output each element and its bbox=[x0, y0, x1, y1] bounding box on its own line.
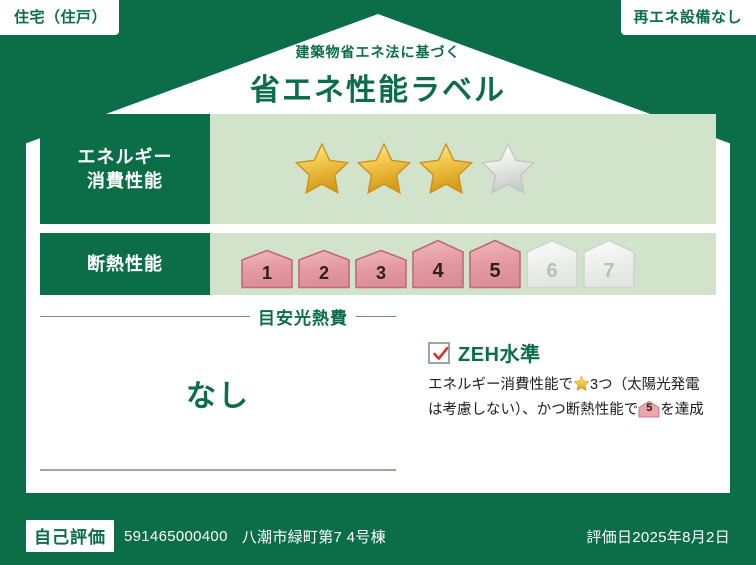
evaluation-type-tag: 自己評価 bbox=[26, 520, 114, 552]
mini-insulation-badge: 5 bbox=[638, 400, 660, 418]
insulation-level-number: 4 bbox=[411, 261, 465, 281]
insulation-level-3: 3 bbox=[354, 249, 408, 289]
insulation-level-number: 2 bbox=[297, 264, 351, 282]
insulation-level-4: 4 bbox=[411, 239, 465, 289]
insulation-performance-label: 断熱性能 bbox=[40, 233, 210, 295]
energy-performance-row: エネルギー 消費性能 bbox=[40, 114, 716, 224]
star-filled-icon bbox=[418, 141, 474, 197]
utility-cost-heading-text: 目安光熱費 bbox=[258, 304, 348, 329]
card-content: エネルギー 消費性能 断熱性能 1234567 目安光熱費 なし bbox=[26, 110, 730, 493]
zeh-panel: ZEH水準 エネルギー消費性能で3つ（太陽光発電は考慮しない）、かつ断熱性能で5… bbox=[412, 304, 716, 471]
utility-cost-heading: 目安光熱費 bbox=[40, 304, 396, 329]
heading-rule-left bbox=[40, 316, 250, 317]
mini-badge-number: 5 bbox=[638, 400, 660, 417]
insulation-level-5: 5 bbox=[468, 239, 522, 289]
star-rating bbox=[294, 141, 536, 197]
energy-label-line2: 消費性能 bbox=[87, 169, 163, 193]
insulation-level-number: 5 bbox=[468, 261, 522, 281]
evaluation-id: 591465000400 bbox=[124, 528, 228, 545]
title-main: 省エネ性能ラベル bbox=[0, 65, 756, 109]
zeh-desc-part2: 3つ（太陽光発電 bbox=[590, 377, 700, 393]
zeh-checkbox bbox=[428, 342, 450, 364]
energy-performance-label: エネルギー 消費性能 bbox=[40, 114, 210, 224]
evaluation-date: 評価日2025年8月2日 bbox=[586, 526, 730, 547]
lower-section: 目安光熱費 なし ZEH水準 エネルギー消費性能で3つ（太陽光発電は考慮しない）… bbox=[40, 304, 716, 471]
star-empty-icon bbox=[480, 141, 536, 197]
zeh-desc-part1: エネルギー消費性能で bbox=[428, 377, 573, 393]
label-title-block: 建築物省エネ法に基づく 省エネ性能ラベル bbox=[0, 42, 756, 109]
zeh-title: ZEH水準 bbox=[458, 338, 541, 367]
insulation-level-number: 7 bbox=[582, 261, 636, 281]
heading-rule-right bbox=[356, 316, 396, 317]
insulation-level-7: 7 bbox=[582, 239, 636, 289]
energy-label-line1: エネルギー bbox=[78, 145, 173, 169]
insulation-level-number: 1 bbox=[240, 264, 294, 282]
title-subtitle: 建築物省エネ法に基づく bbox=[0, 42, 756, 62]
insulation-level-6: 6 bbox=[525, 239, 579, 289]
insulation-level-scale: 1234567 bbox=[240, 239, 636, 289]
star-filled-icon bbox=[294, 141, 350, 197]
renewable-equipment-tag: 再エネ設備なし bbox=[621, 0, 756, 35]
insulation-level-1: 1 bbox=[240, 249, 294, 289]
zeh-heading: ZEH水準 bbox=[428, 338, 716, 367]
zeh-desc-part3: は考慮しない）、かつ断熱性能で bbox=[428, 402, 638, 418]
utility-cost-value: なし bbox=[40, 371, 396, 415]
insulation-performance-row: 断熱性能 1234567 bbox=[40, 233, 716, 295]
utility-cost-panel: 目安光熱費 なし bbox=[40, 304, 412, 471]
insulation-label-text: 断熱性能 bbox=[87, 252, 163, 276]
star-filled-icon bbox=[356, 141, 412, 197]
footer-bar: 自己評価 591465000400 八潮市緑町第7 4号棟 評価日2025年8月… bbox=[0, 507, 756, 565]
property-address: 八潮市緑町第7 4号棟 bbox=[242, 526, 386, 547]
energy-performance-body bbox=[210, 114, 716, 224]
insulation-performance-body: 1234567 bbox=[210, 233, 716, 295]
insulation-level-2: 2 bbox=[297, 249, 351, 289]
mini-star-icon bbox=[573, 375, 590, 399]
check-icon bbox=[432, 345, 450, 363]
dwelling-type-tag: 住宅（住戸） bbox=[0, 0, 119, 35]
zeh-desc-part4: を達成 bbox=[660, 402, 704, 418]
zeh-description: エネルギー消費性能で3つ（太陽光発電は考慮しない）、かつ断熱性能で5を達成 bbox=[428, 374, 716, 422]
insulation-level-number: 6 bbox=[525, 261, 579, 281]
insulation-level-number: 3 bbox=[354, 264, 408, 282]
utility-cost-divider bbox=[40, 469, 396, 471]
